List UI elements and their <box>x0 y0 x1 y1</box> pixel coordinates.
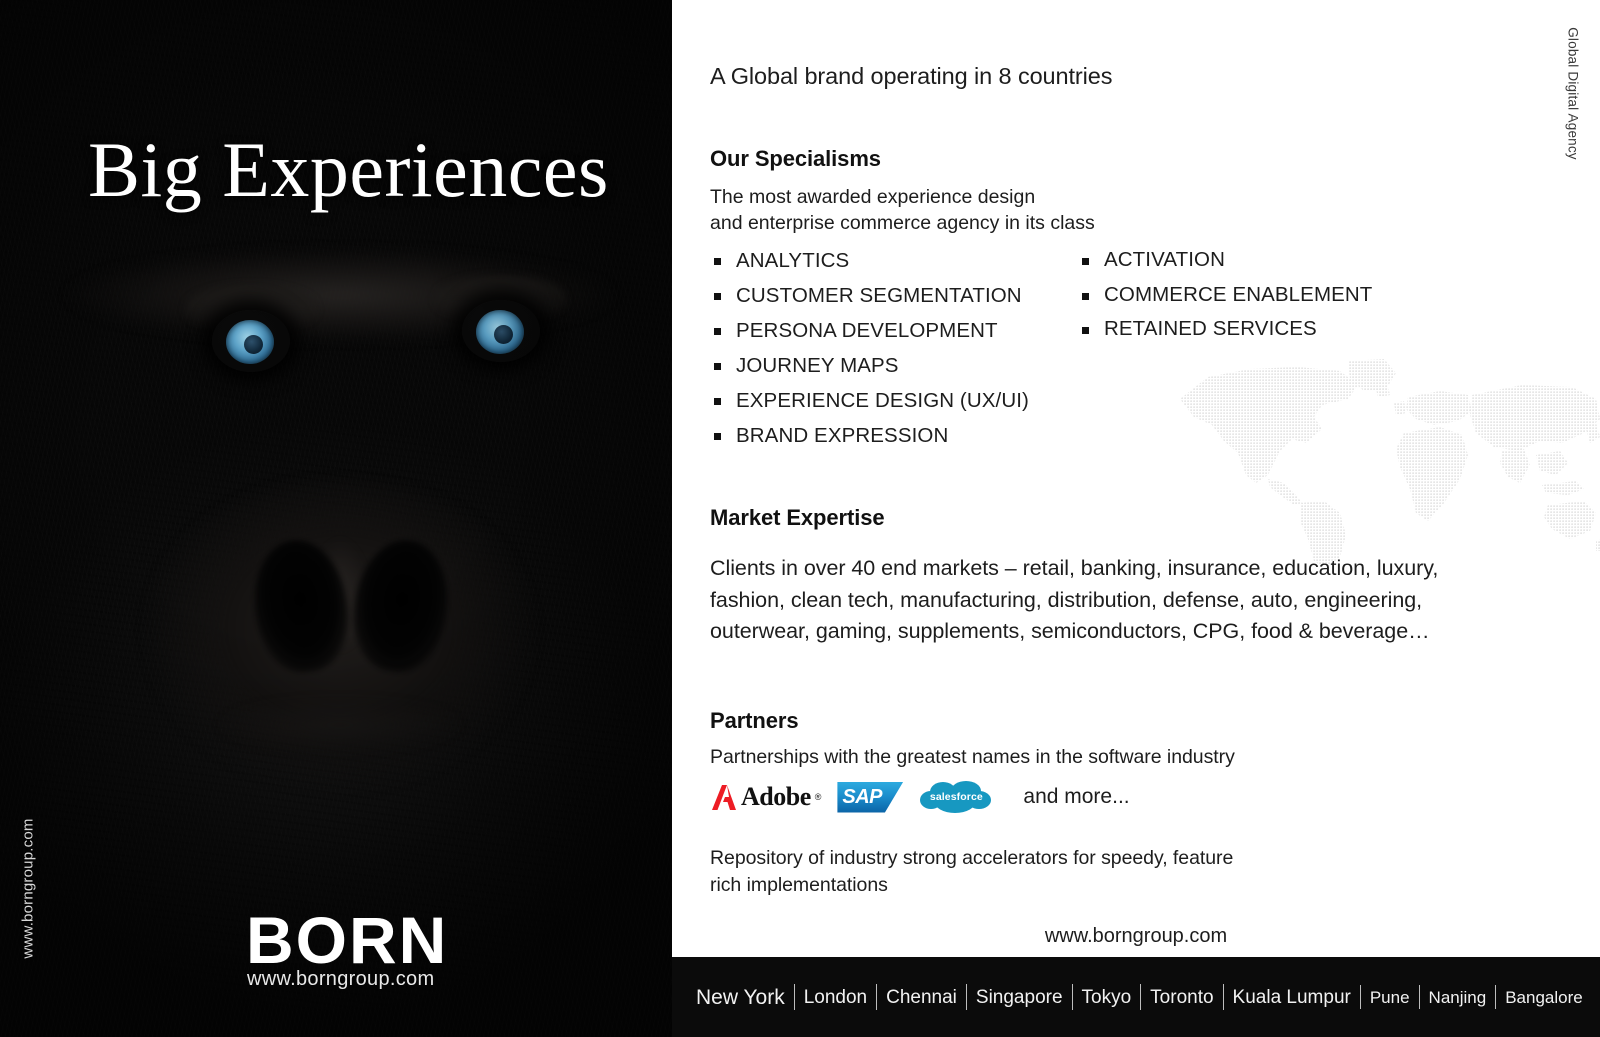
adobe-a-mark-icon <box>710 784 738 811</box>
separator <box>1419 985 1420 1009</box>
world-map-graphic <box>1172 355 1600 565</box>
specialisms-heading: Our Specialisms <box>710 146 881 172</box>
list-item: ACTIVATION <box>1078 243 1372 278</box>
separator <box>966 984 967 1010</box>
repository-line-2: rich implementations <box>710 872 1350 899</box>
bullet-square-icon <box>714 398 721 405</box>
lead-statement: A Global brand operating in 8 countries <box>710 63 1112 90</box>
edge-url-vertical: www.borngroup.com <box>20 799 37 979</box>
salesforce-wordmark: salesforce <box>919 791 993 803</box>
bullet-square-icon <box>1082 258 1089 265</box>
headline: Big Experiences <box>88 131 609 209</box>
list-item-label: EXPERIENCE DESIGN (UX/UI) <box>736 389 1029 412</box>
city-kuala-lumpur: Kuala Lumpur <box>1233 988 1351 1007</box>
sap-logo: SAP <box>837 782 903 813</box>
list-item: BRAND EXPRESSION <box>710 418 1029 453</box>
separator <box>1140 984 1141 1010</box>
partners-heading: Partners <box>710 708 798 734</box>
separator <box>1495 985 1496 1009</box>
city-chennai: Chennai <box>886 988 957 1007</box>
market-expertise-body: Clients in over 40 end markets – retail,… <box>710 553 1480 648</box>
list-item: ANALYTICS <box>710 243 1029 278</box>
bullet-square-icon <box>714 293 721 300</box>
specialisms-subheading-line-2: and enterprise commerce agency in its cl… <box>710 210 1095 236</box>
specialisms-column-two: ACTIVATION COMMERCE ENABLEMENT RETAINED … <box>1078 243 1372 347</box>
city-tokyo: Tokyo <box>1082 988 1132 1007</box>
separator <box>794 984 795 1010</box>
content-panel: Global Digital Agency A Global brand ope… <box>672 0 1600 957</box>
vertical-tagline: Global Digital Agency <box>1566 0 1581 194</box>
born-wordmark: BORN <box>246 907 448 973</box>
poster-root: Big Experiences BORN www.borngroup.com w… <box>0 0 1600 1037</box>
bullet-square-icon <box>714 433 721 440</box>
list-item-label: ANALYTICS <box>736 249 849 272</box>
list-item: PERSONA DEVELOPMENT <box>710 313 1029 348</box>
panel-url: www.borngroup.com <box>672 925 1600 948</box>
list-item-label: JOURNEY MAPS <box>736 354 899 377</box>
list-item-label: RETAINED SERVICES <box>1104 317 1317 340</box>
office-locations-list: New York London Chennai Singapore Tokyo … <box>696 957 1583 1037</box>
city-pune: Pune <box>1370 989 1410 1006</box>
separator <box>1360 985 1361 1009</box>
specialisms-list-right: ACTIVATION COMMERCE ENABLEMENT RETAINED … <box>1078 243 1372 347</box>
bullet-square-icon <box>714 258 721 265</box>
bullet-square-icon <box>1082 293 1089 300</box>
list-item-label: PERSONA DEVELOPMENT <box>736 319 998 342</box>
bullet-square-icon <box>714 328 721 335</box>
bullet-square-icon <box>714 363 721 370</box>
specialisms-column-one: ANALYTICS CUSTOMER SEGMENTATION PERSONA … <box>710 243 1029 453</box>
list-item: RETAINED SERVICES <box>1078 312 1372 347</box>
separator <box>1223 984 1224 1010</box>
sap-wordmark: SAP <box>842 787 882 808</box>
born-url: www.borngroup.com <box>247 968 434 991</box>
list-item-label: CUSTOMER SEGMENTATION <box>736 284 1022 307</box>
adobe-wordmark: Adobe <box>741 784 811 810</box>
gorilla-image-panel: Big Experiences BORN www.borngroup.com w… <box>0 0 672 1037</box>
adobe-registered-mark: ® <box>815 792 822 802</box>
list-item: EXPERIENCE DESIGN (UX/UI) <box>710 383 1029 418</box>
list-item: COMMERCE ENABLEMENT <box>1078 278 1372 313</box>
list-item-label: BRAND EXPRESSION <box>736 424 948 447</box>
list-item: JOURNEY MAPS <box>710 348 1029 383</box>
specialisms-list-left: ANALYTICS CUSTOMER SEGMENTATION PERSONA … <box>710 243 1029 453</box>
salesforce-logo: salesforce <box>919 780 993 814</box>
specialisms-subheading: The most awarded experience design and e… <box>710 184 1095 236</box>
specialisms-subheading-line-1: The most awarded experience design <box>710 184 1095 210</box>
city-nanjing: Nanjing <box>1429 989 1487 1006</box>
market-expertise-heading: Market Expertise <box>710 505 885 531</box>
repository-line-1: Repository of industry strong accelerato… <box>710 845 1350 872</box>
city-toronto: Toronto <box>1150 988 1213 1007</box>
city-bangalore: Bangalore <box>1505 989 1583 1006</box>
bullet-square-icon <box>1082 327 1089 334</box>
adobe-logo: Adobe ® <box>710 781 821 813</box>
city-london: London <box>804 988 867 1007</box>
city-singapore: Singapore <box>976 988 1063 1007</box>
city-new-york: New York <box>696 987 785 1008</box>
and-more-label: and more... <box>1023 785 1129 809</box>
separator <box>1072 984 1073 1010</box>
repository-statement: Repository of industry strong accelerato… <box>710 845 1350 899</box>
list-item-label: COMMERCE ENABLEMENT <box>1104 283 1372 306</box>
partners-subheading: Partnerships with the greatest names in … <box>710 746 1235 769</box>
partner-logos: Adobe ® SAP salesforce <box>710 780 1130 814</box>
list-item: CUSTOMER SEGMENTATION <box>710 278 1029 313</box>
office-locations-bar: New York London Chennai Singapore Tokyo … <box>672 957 1600 1037</box>
separator <box>876 984 877 1010</box>
list-item-label: ACTIVATION <box>1104 248 1225 271</box>
